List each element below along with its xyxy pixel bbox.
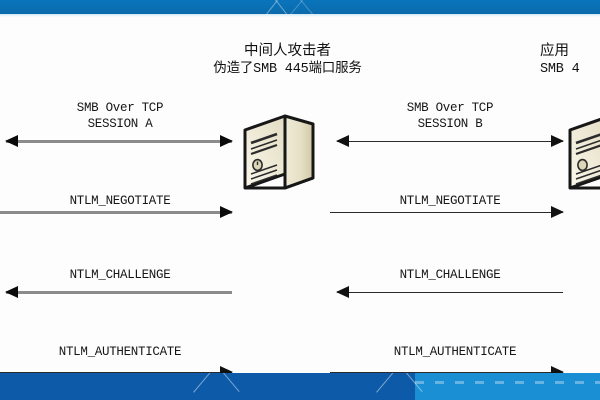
flow-arrow-right-1	[337, 135, 563, 147]
arrow-head-right	[220, 206, 233, 218]
arrow-shaft	[6, 140, 232, 143]
arrow-head-left	[336, 286, 349, 298]
arrow-head-left	[336, 135, 349, 147]
flow-arrow-left-3	[6, 286, 232, 298]
slide-top-band	[0, 0, 600, 14]
flow-label-right-1: SMB Over TCP SESSION B	[335, 100, 565, 133]
arrow-head-right	[220, 135, 233, 147]
mitm-caption-line2: 伪造了SMB 445端口服务	[175, 61, 400, 78]
chevron-decoration	[217, 373, 240, 392]
dashed-line-decoration	[415, 381, 600, 384]
flow-label-left-4-line1: NTLM_AUTHENTICATE	[59, 345, 181, 359]
diagram-slide: 中间人攻击者 伪造了SMB 445端口服务 应用 SMB 4	[0, 0, 600, 400]
arrow-shaft	[337, 292, 563, 293]
flow-label-left-4: NTLM_AUTHENTICATE	[5, 344, 235, 360]
flow-label-right-3-line1: NTLM_CHALLENGE	[400, 268, 501, 282]
arrow-head-right	[551, 206, 564, 218]
flow-label-left-1-line2: SESSION A	[5, 116, 235, 132]
slide-bottom-band	[0, 373, 600, 400]
flow-label-left-3-line1: NTLM_CHALLENGE	[70, 268, 171, 282]
chevron-decoration	[265, 0, 277, 14]
server-icon	[562, 108, 600, 194]
arrow-head-left	[5, 135, 18, 147]
flow-label-right-3: NTLM_CHALLENGE	[335, 267, 565, 283]
flow-label-right-4: NTLM_AUTHENTICATE	[335, 344, 575, 360]
server-icon-mitm	[237, 108, 321, 194]
slide-top-band-highlight	[0, 14, 600, 17]
node-caption-mitm: 中间人攻击者 伪造了SMB 445端口服务	[175, 42, 400, 78]
flow-label-left-1: SMB Over TCP SESSION A	[5, 100, 235, 133]
server-icon	[237, 108, 321, 194]
arrow-shaft	[337, 141, 563, 142]
arrow-shaft	[330, 212, 563, 213]
flow-arrow-right-3	[337, 286, 563, 298]
app-server-caption-line2: SMB 4	[540, 61, 600, 78]
app-server-caption-line1: 应用	[540, 42, 600, 61]
flow-arrow-left-2	[0, 206, 232, 218]
flow-label-right-4-line1: NTLM_AUTHENTICATE	[394, 345, 516, 359]
arrow-shaft	[0, 211, 232, 214]
arrow-shaft	[6, 291, 232, 294]
chevron-decoration	[193, 373, 216, 393]
server-icon-app-server	[562, 108, 600, 194]
slide-bottom-band-accent	[415, 373, 600, 400]
flow-label-right-1-line1: SMB Over TCP	[407, 101, 493, 115]
node-caption-app-server: 应用 SMB 4	[540, 42, 600, 78]
arrow-head-left	[5, 286, 18, 298]
mitm-caption-line1: 中间人攻击者	[175, 42, 400, 61]
flow-arrow-left-1	[6, 135, 232, 147]
chevron-decoration	[275, 0, 287, 14]
flow-label-right-1-line2: SESSION B	[335, 116, 565, 132]
flow-label-left-1-line1: SMB Over TCP	[77, 101, 163, 115]
flow-arrow-right-2	[330, 206, 563, 218]
arrow-head-right	[551, 135, 564, 147]
flow-label-left-3: NTLM_CHALLENGE	[5, 267, 235, 283]
chevron-decoration	[376, 373, 399, 393]
chevron-decoration	[300, 0, 316, 14]
chevron-decoration	[287, 0, 303, 14]
